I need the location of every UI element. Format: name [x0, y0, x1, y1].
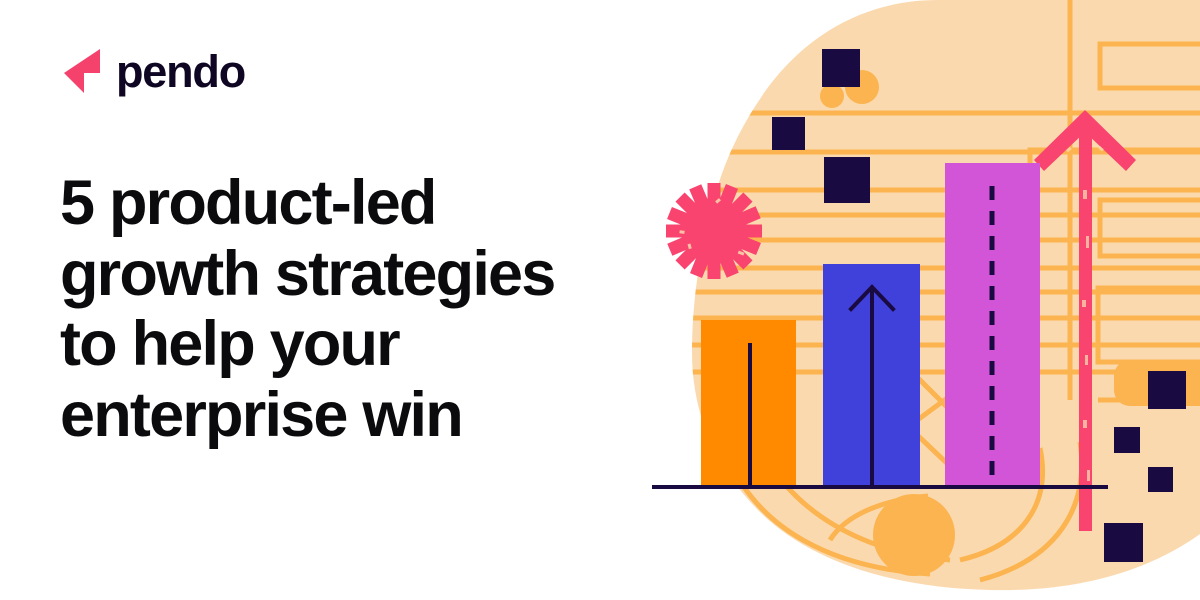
headline-line-4: enterprise win	[60, 380, 680, 451]
pendo-logo[interactable]: pendo	[62, 47, 245, 95]
bar-orange	[701, 320, 796, 487]
navy-square	[822, 49, 860, 87]
headline-line-3: to help your	[60, 309, 680, 380]
navy-square	[1148, 371, 1186, 409]
bar-purple	[945, 163, 1040, 487]
pendo-wordmark: pendo	[116, 49, 245, 94]
orange-dot	[873, 494, 955, 576]
navy-square	[1114, 427, 1140, 453]
headline-line-2: growth strategies	[60, 239, 680, 310]
text-column: pendo 5 product-led growth strategies to…	[0, 0, 680, 600]
navy-square	[1148, 467, 1173, 492]
headline-line-1: 5 product-led	[60, 168, 680, 239]
pendo-blog-banner: pendo 5 product-led growth strategies to…	[0, 0, 1200, 600]
bar-blue	[823, 264, 920, 487]
navy-square	[772, 117, 805, 150]
orange-dot	[820, 84, 844, 108]
pink-starburst	[666, 183, 762, 279]
navy-square	[1104, 523, 1143, 562]
page-title: 5 product-led growth strategies to help …	[60, 168, 680, 450]
pendo-arrow-mark	[62, 47, 102, 95]
navy-square	[824, 157, 870, 203]
